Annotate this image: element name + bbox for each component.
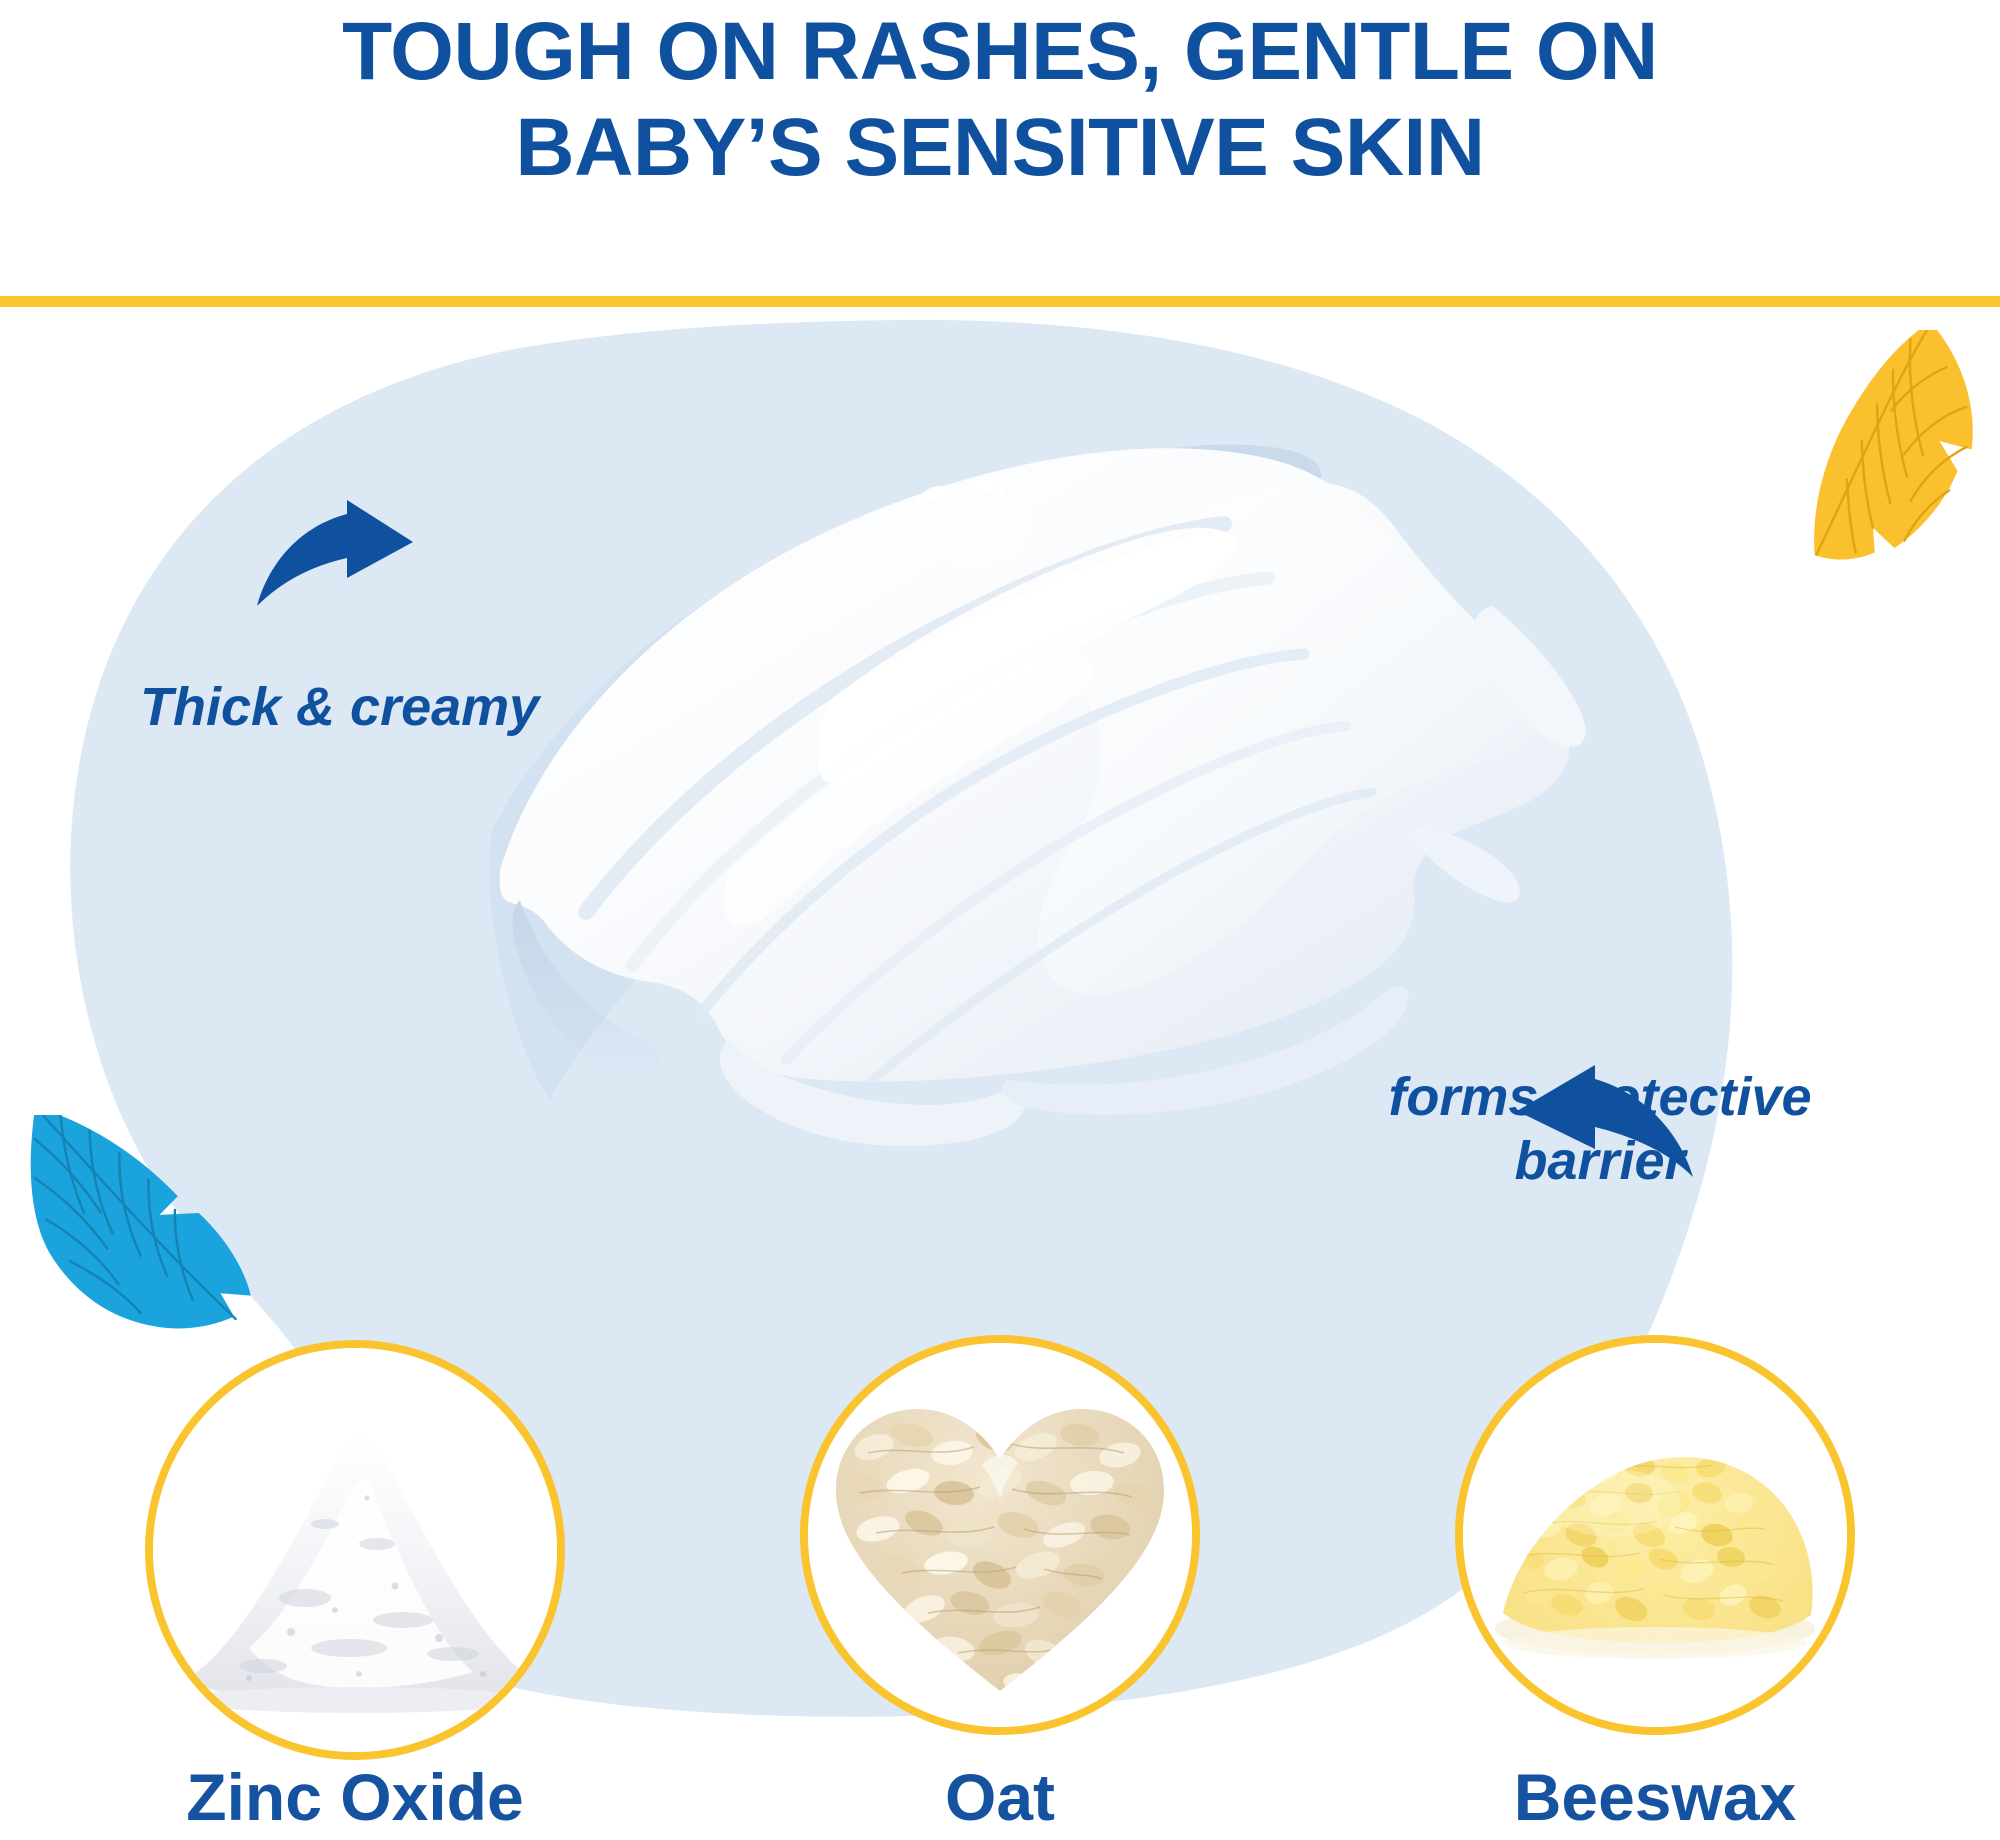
oat-flakes-heart-icon	[808, 1343, 1192, 1727]
ingredient-oat-disc	[800, 1335, 1200, 1735]
ingredient-beeswax-label: Beeswax	[1345, 1760, 1965, 1834]
callout-thick-creamy: Thick & creamy	[140, 675, 660, 739]
page-title-line-2: BABY’S SENSITIVE SKIN	[0, 100, 2000, 196]
page-title-line-1: TOUGH ON RASHES, GENTLE ON	[0, 4, 2000, 100]
callout-protective-barrier: forms protective barrier	[1340, 1065, 1860, 1193]
ingredient-zinc-oxide-disc	[145, 1340, 565, 1760]
leaf-icon-blue	[5, 1115, 275, 1335]
white-powder-pile-icon	[153, 1348, 557, 1752]
page-title: TOUGH ON RASHES, GENTLE ON BABY’S SENSIT…	[0, 4, 2000, 196]
beeswax-pellets-pile-icon	[1463, 1343, 1847, 1727]
product-feature-panel: TOUGH ON RASHES, GENTLE ON BABY’S SENSIT…	[0, 0, 2000, 1840]
curved-arrow-right-icon	[255, 500, 415, 610]
leaf-icon-gold	[1770, 330, 2000, 560]
ingredient-beeswax-disc	[1455, 1335, 1855, 1735]
cream-swatch	[400, 400, 1640, 1160]
ingredient-zinc-oxide-label: Zinc Oxide	[55, 1760, 655, 1834]
ingredient-oat-label: Oat	[700, 1760, 1300, 1834]
